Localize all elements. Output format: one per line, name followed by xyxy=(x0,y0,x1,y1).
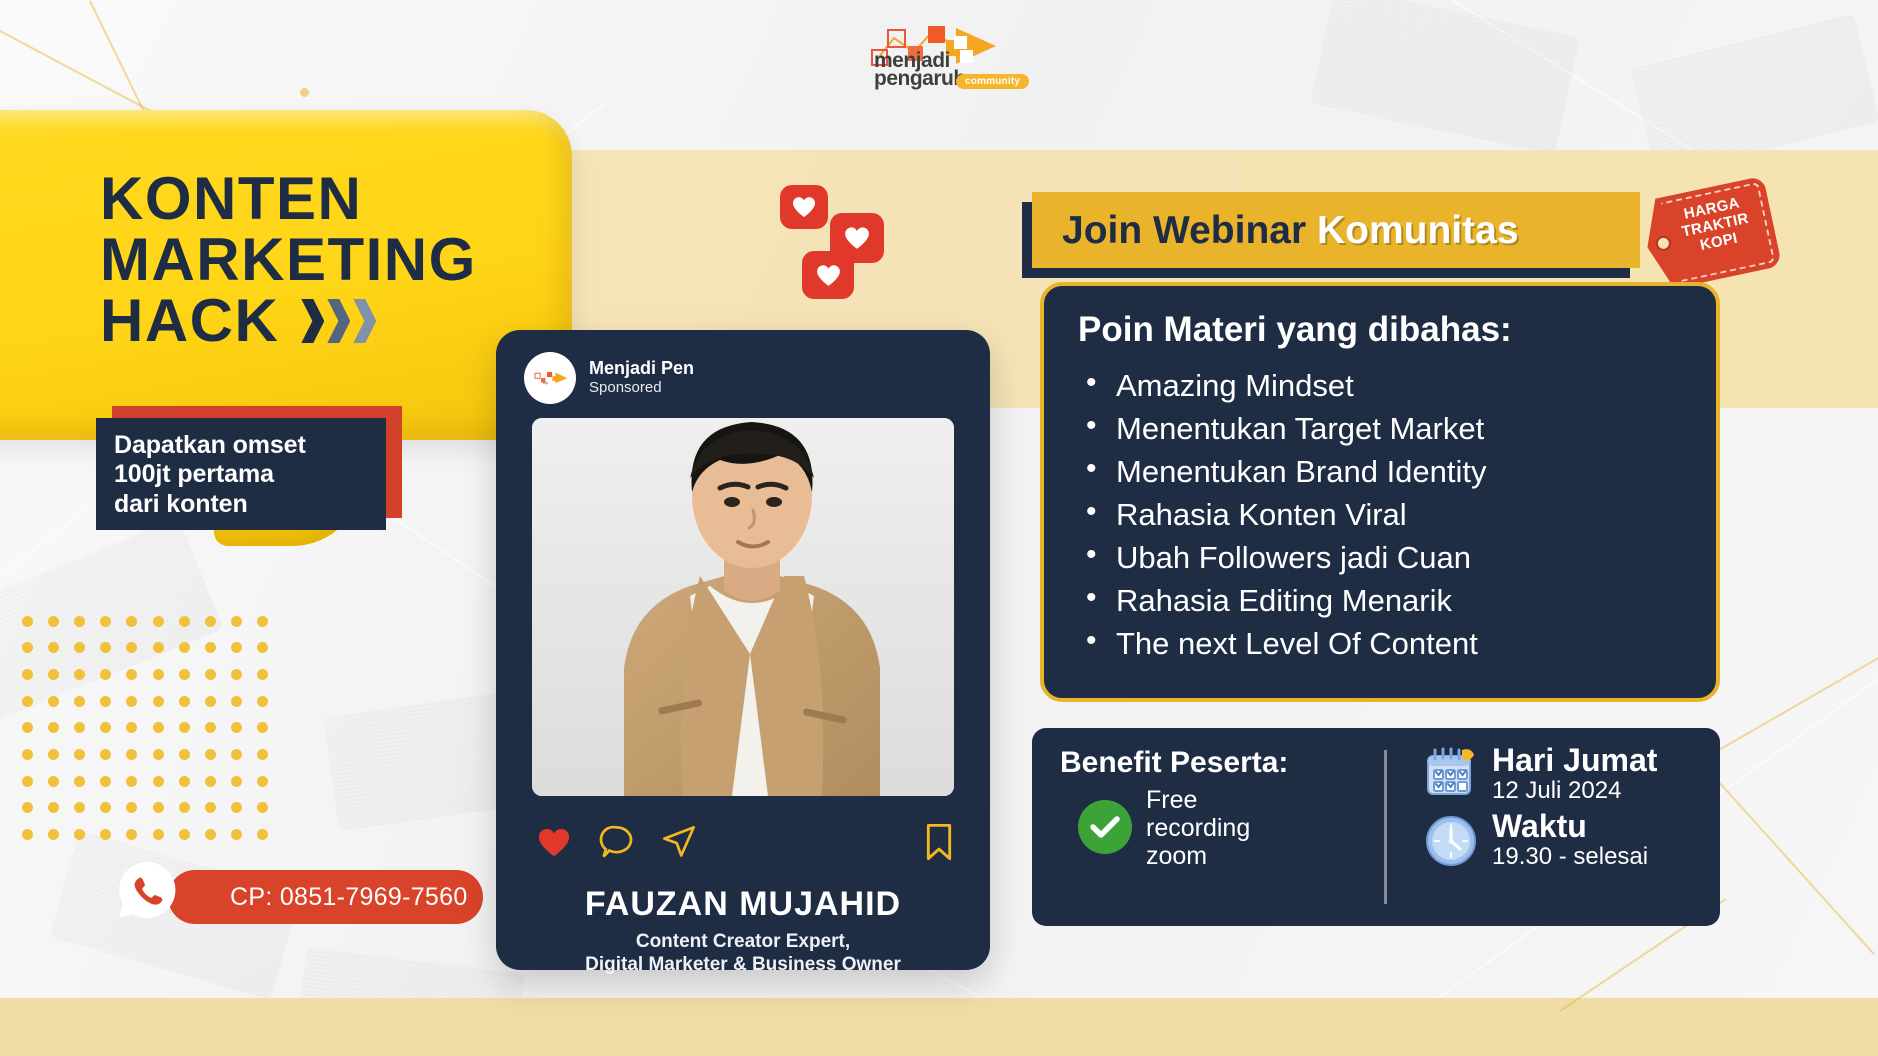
join-webinar-title: Join Webinar Komunitas xyxy=(1062,209,1519,253)
list-item: Menentukan Brand Identity xyxy=(1078,450,1716,493)
list-item: Rahasia Editing Menarik xyxy=(1078,579,1716,622)
bottom-band xyxy=(0,998,1878,1056)
benefit-line1: Free xyxy=(1146,786,1250,814)
heart-bubble xyxy=(780,185,828,229)
speaker-name: FAUZAN MUJAHID xyxy=(496,885,990,924)
instagram-post-card: mp Menjadi Pen Sponsored xyxy=(496,330,990,970)
benefit-item-text: Free recording zoom xyxy=(1146,786,1250,870)
floating-hearts-decor xyxy=(780,185,910,285)
join-webinar-banner: Join Webinar Komunitas xyxy=(1032,192,1640,268)
benefit-item: Free recording zoom xyxy=(1060,786,1360,870)
speaker-role-line1: Content Creator Expert, xyxy=(496,930,990,953)
schedule-section: Hari Jumat 12 Juli 2024 Waktu 19.30 - se… xyxy=(1422,744,1712,876)
svg-text:mp: mp xyxy=(543,380,548,385)
brand-logo-badge: community xyxy=(956,74,1029,89)
points-title: Poin Materi yang dibahas: xyxy=(1078,310,1716,350)
schedule-date: 12 Juli 2024 xyxy=(1492,777,1657,805)
join-highlight: Komunitas xyxy=(1317,209,1519,252)
benefit-line3: zoom xyxy=(1146,842,1250,870)
brand-logo-text: menjadi pengaruh xyxy=(874,52,966,87)
avatar: mp xyxy=(524,352,576,404)
points-list: Amazing Mindset Menentukan Target Market… xyxy=(1078,364,1716,666)
schedule-date-row: Hari Jumat 12 Juli 2024 xyxy=(1422,744,1712,804)
join-prefix: Join Webinar xyxy=(1062,209,1306,252)
post-sponsored-label: Sponsored xyxy=(589,379,694,398)
schedule-time-label: Waktu xyxy=(1492,810,1648,843)
heart-icon[interactable] xyxy=(536,826,572,859)
list-item: Amazing Mindset xyxy=(1078,364,1716,407)
page-title: KONTEN MARKETING HACK xyxy=(100,168,570,352)
share-icon[interactable] xyxy=(660,824,698,860)
gold-node-decor xyxy=(300,88,309,97)
schedule-time: 19.30 - selesai xyxy=(1492,843,1648,871)
heart-bubble xyxy=(802,251,854,299)
list-item: Menentukan Target Market xyxy=(1078,407,1716,450)
brand-logo-line2: pengaruh xyxy=(874,70,966,88)
heart-icon xyxy=(815,263,842,288)
dot-grid-decor xyxy=(14,608,276,848)
headline-line3: HACK xyxy=(100,290,279,351)
list-item: Rahasia Konten Viral xyxy=(1078,493,1716,536)
schedule-day: Hari Jumat xyxy=(1492,744,1657,777)
calendar-icon xyxy=(1422,744,1480,802)
list-item: The next Level Of Content xyxy=(1078,622,1716,665)
speaker-photo xyxy=(532,418,954,796)
benefit-section: Benefit Peserta: Free recording zoom xyxy=(1060,746,1360,870)
post-image xyxy=(532,418,954,796)
benefit-schedule-panel: Benefit Peserta: Free recording zoom xyxy=(1032,728,1720,926)
omset-line3: dari konten xyxy=(114,490,386,519)
schedule-time-row: Waktu 19.30 - selesai xyxy=(1422,810,1712,870)
omset-line1: Dapatkan omset xyxy=(114,431,386,460)
post-header: mp Menjadi Pen Sponsored xyxy=(524,352,694,404)
headline-line1: KONTEN xyxy=(100,168,362,229)
post-actions xyxy=(536,822,954,864)
contact-label: CP: 0851-7969-7560 xyxy=(230,883,468,912)
speaker-role: Content Creator Expert, Digital Marketer… xyxy=(496,930,990,976)
headline-line2: MARKETING xyxy=(100,229,477,290)
brand-logo-avatar: mp xyxy=(529,365,571,391)
benefit-title: Benefit Peserta: xyxy=(1060,746,1360,780)
heart-icon xyxy=(843,225,871,251)
heart-icon xyxy=(791,195,817,219)
omset-badge-body: Dapatkan omset 100jt pertama dari konten xyxy=(96,418,386,530)
list-item: Ubah Followers jadi Cuan xyxy=(1078,536,1716,579)
clock-icon xyxy=(1422,810,1480,868)
benefit-line2: recording xyxy=(1146,814,1250,842)
omset-badge: Dapatkan omset 100jt pertama dari konten xyxy=(96,418,402,530)
brand-logo: menjadi pengaruh community xyxy=(868,22,1008,94)
panel-divider xyxy=(1384,750,1387,904)
post-username: Menjadi Pen xyxy=(589,358,694,380)
whatsapp-phone-icon xyxy=(115,858,179,922)
double-chevron-right-icon xyxy=(301,299,376,343)
speaker-role-line2: Digital Marketer & Business Owner xyxy=(496,953,990,976)
omset-line2: 100jt pertama xyxy=(114,460,386,489)
contact-pill[interactable]: CP: 0851-7969-7560 xyxy=(168,870,483,924)
comment-icon[interactable] xyxy=(598,824,634,860)
points-panel: Poin Materi yang dibahas: Amazing Mindse… xyxy=(1040,282,1720,702)
poster-canvas: menjadi pengaruh community KONTEN MARKET… xyxy=(0,0,1878,1056)
bookmark-icon[interactable] xyxy=(924,823,954,861)
check-circle-icon xyxy=(1078,800,1132,854)
